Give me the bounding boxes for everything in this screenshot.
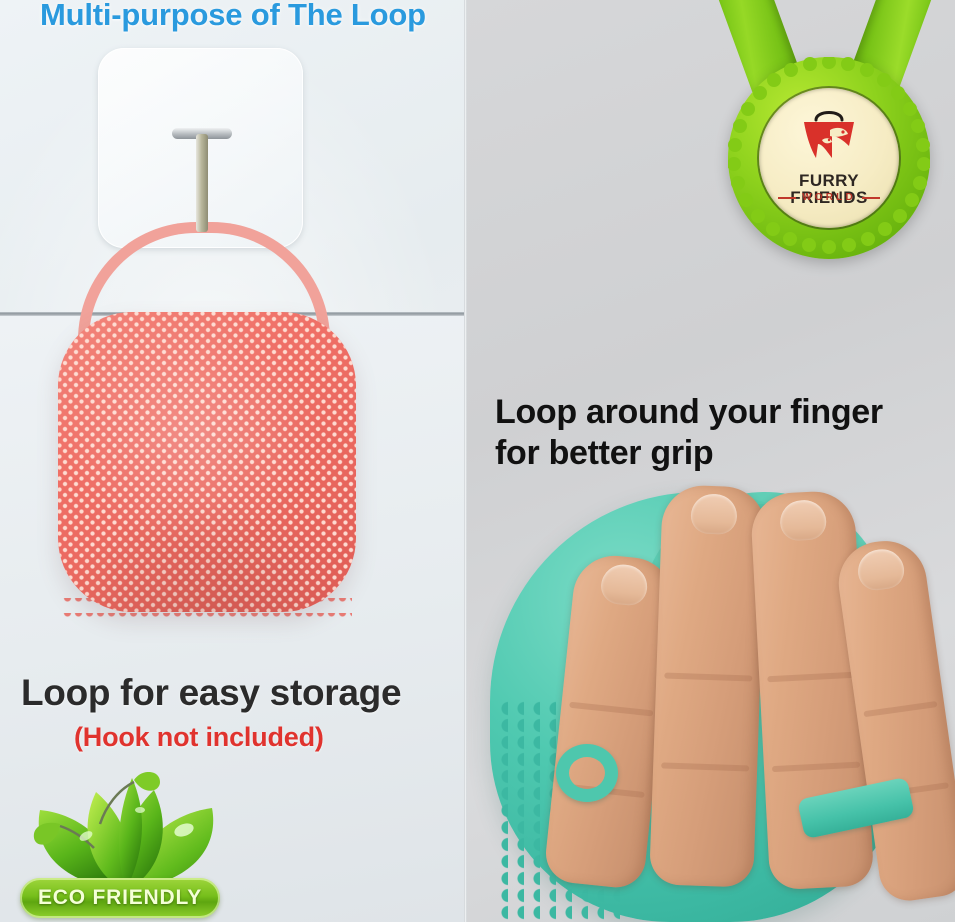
fingernail [690,493,737,535]
knuckle-crease [661,762,749,771]
logo-subtitle-row: WORLD [759,193,899,203]
knuckle-crease [665,672,753,681]
product-infographic: Loop for easy storage (Hook not included… [0,0,955,922]
caption-hook-not-included: (Hook not included) [74,722,324,753]
knuckle-crease [772,762,860,773]
pink-brush-shading [58,312,356,612]
eco-friendly-label: ECO FRIENDLY [38,886,202,910]
caption-line-1: Loop around your finger [495,392,883,433]
medal-center: FURRY FRIENDS WORLD [759,88,899,228]
logo-dash-left [778,197,796,199]
knuckle-crease [569,702,653,717]
pet-shopping-bag-icon [796,106,862,166]
logo-dash-right [862,197,880,199]
caption-loop-for-easy-storage: Loop for easy storage [21,672,401,714]
knuckle-crease [768,672,856,683]
caption-line-2: for better grip [495,433,883,474]
fingernail [779,499,827,541]
fingernail [855,546,906,592]
fingernail [599,562,649,607]
finger-middle [649,484,767,887]
brand-logo: FURRY FRIENDS WORLD [700,0,950,320]
knuckle-crease [863,701,937,717]
page-title: Multi-purpose of The Loop [40,0,426,33]
medal-badge: FURRY FRIENDS WORLD [728,57,930,259]
leaves-icon [14,772,240,892]
panel-divider [464,0,467,922]
teal-brush-finger-loop [556,744,618,802]
hook-metal-stem [196,134,208,232]
pink-silicone-brush [58,312,356,612]
caption-loop-around-finger: Loop around your finger for better grip [495,392,883,475]
logo-subtitle: WORLD [802,193,856,203]
eco-friendly-badge: ECO FRIENDLY [20,878,220,918]
